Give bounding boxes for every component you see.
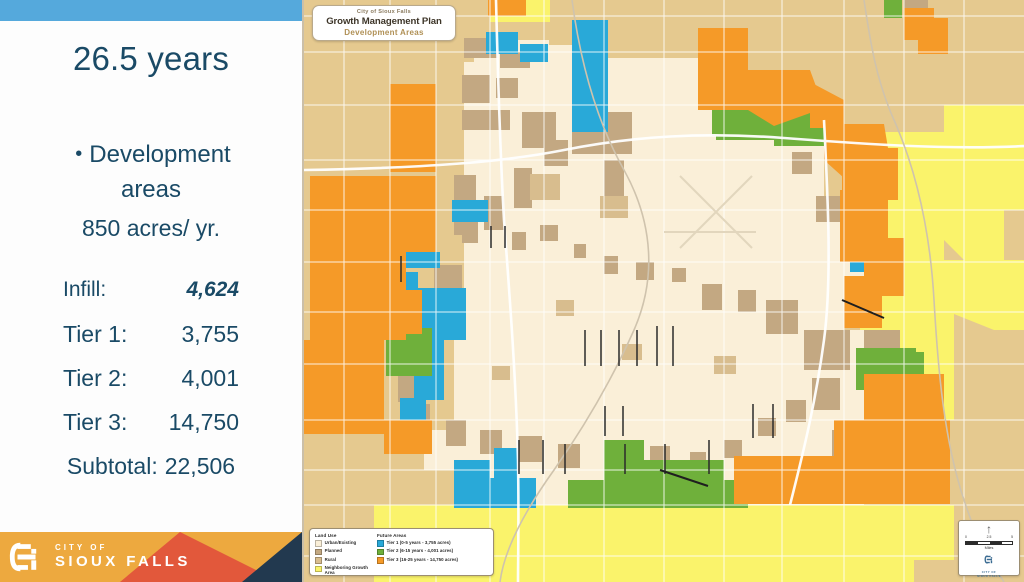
- figure-row-tier-3: Tier 3: 14,750: [0, 400, 302, 444]
- figure-value-subtotal: 22,506: [158, 444, 235, 488]
- inset-logo-name: SIOUX FALLS: [959, 574, 1019, 578]
- legend-header-future-areas: Future Areas: [377, 533, 489, 538]
- legend-label-planned: Planned: [325, 548, 342, 553]
- bullet-text-line1: Development: [89, 141, 230, 168]
- legend-item-planned: Planned: [315, 548, 377, 555]
- map-graphic: [304, 0, 1024, 582]
- figure-label-subtotal: Subtotal:: [67, 444, 158, 488]
- figures-list: Infill: 4,624 Tier 1: 3,755 Tier 2: 4,00…: [0, 268, 302, 488]
- scale-bar: [965, 541, 1013, 545]
- legend-item-tier-1: Tier 1 (0-5 years - 3,755 acres): [377, 540, 489, 547]
- figure-value-infill: 4,624: [155, 268, 239, 312]
- figure-row-tier-1: Tier 1: 3,755: [0, 312, 302, 356]
- legend-swatch-tier-2: [377, 549, 384, 556]
- scale-units-label: Miles: [959, 546, 1019, 550]
- bullet-text-line2: areas: [0, 172, 302, 208]
- figure-label-tier-3: Tier 3:: [63, 400, 155, 444]
- footer-brand-text: CITY OF SIOUX FALLS: [55, 542, 191, 570]
- footer-brand-bar: CITY OF SIOUX FALLS: [0, 532, 302, 582]
- map-title-subtitle: Development Areas: [313, 28, 455, 38]
- figure-label-tier-2: Tier 2:: [63, 356, 155, 400]
- header-accent-bar: [0, 0, 302, 21]
- legend-swatch-rural: [315, 557, 322, 564]
- legend-label-rural: Rural: [325, 557, 336, 562]
- figure-label-infill: Infill:: [63, 268, 155, 312]
- legend-swatch-tier-1: [377, 540, 384, 547]
- figure-row-subtotal: Subtotal: 22,506: [0, 444, 302, 488]
- bullet-item-development-areas: •Development: [0, 137, 302, 172]
- legend-label-tier-3: Tier 3 (16-25 years - 14,750 acres): [387, 557, 458, 562]
- scale-tick-0: 0: [965, 535, 967, 539]
- footer-city-of: CITY OF: [55, 542, 191, 553]
- scale-tick-mid: 2.5: [987, 535, 992, 539]
- legend-swatch-urban-existing: [315, 540, 322, 547]
- figure-value-tier-2: 4,001: [155, 356, 239, 400]
- north-arrow-icon: ↑: [959, 524, 1019, 535]
- legend-item-tier-2: Tier 2 (6-15 years - 4,001 acres): [377, 548, 489, 555]
- page-title: 26.5 years: [0, 42, 302, 77]
- map-title-plan: Growth Management Plan: [313, 16, 455, 28]
- legend-column-future-areas: Future Areas Tier 1 (0-5 years - 3,755 a…: [377, 533, 489, 571]
- scale-tick-max: 5: [1011, 535, 1013, 539]
- figure-row-tier-2: Tier 2: 4,001: [0, 356, 302, 400]
- legend-swatch-tier-3: [377, 557, 384, 564]
- left-text-panel: 26.5 years •Development areas 850 acres/…: [0, 0, 302, 582]
- map-scale-inset: ↑ 0 2.5 5 Miles CITY OF SIOUX FALLS Plan…: [958, 520, 1020, 576]
- figure-value-tier-3: 14,750: [155, 400, 239, 444]
- legend-column-land-use: Land Use Urban/Existing Planned Rural Ne…: [315, 533, 377, 571]
- legend-label-neighboring-growth-area: Neighboring Growth Area: [325, 565, 377, 575]
- figure-label-tier-1: Tier 1:: [63, 312, 155, 356]
- sioux-falls-logo-icon: [8, 538, 46, 576]
- figure-row-infill: Infill: 4,624: [0, 268, 302, 312]
- legend-item-urban-existing: Urban/Existing: [315, 540, 377, 547]
- map-title-city: City of Sioux Falls: [313, 9, 455, 16]
- acres-per-year: 850 acres/ yr.: [0, 208, 302, 248]
- bullet-dot-icon: •: [75, 137, 82, 171]
- growth-management-map[interactable]: City of Sioux Falls Growth Management Pl…: [302, 0, 1024, 582]
- footer-band-navy: [242, 532, 302, 582]
- bullet-block: •Development areas 850 acres/ yr.: [0, 137, 302, 248]
- legend-swatch-planned: [315, 549, 322, 556]
- legend-item-tier-3: Tier 3 (16-25 years - 14,750 acres): [377, 557, 489, 564]
- inset-sioux-falls-logo-icon: [984, 554, 995, 565]
- figure-value-tier-1: 3,755: [155, 312, 239, 356]
- slide-canvas: 26.5 years •Development areas 850 acres/…: [0, 0, 1024, 582]
- map-title-card: City of Sioux Falls Growth Management Pl…: [312, 5, 456, 41]
- legend-label-tier-2: Tier 2 (6-15 years - 4,001 acres): [387, 548, 454, 553]
- legend-item-neighboring-growth-area: Neighboring Growth Area: [315, 565, 377, 575]
- legend-item-rural: Rural: [315, 557, 377, 564]
- map-legend: Land Use Urban/Existing Planned Rural Ne…: [309, 528, 494, 576]
- legend-swatch-neighboring-growth-area: [315, 566, 322, 573]
- legend-label-urban-existing: Urban/Existing: [325, 540, 357, 545]
- footer-sioux-falls: SIOUX FALLS: [55, 553, 191, 570]
- scale-tick-labels: 0 2.5 5: [965, 535, 1013, 539]
- legend-header-land-use: Land Use: [315, 533, 377, 538]
- legend-label-tier-1: Tier 1 (0-5 years - 3,755 acres): [387, 540, 451, 545]
